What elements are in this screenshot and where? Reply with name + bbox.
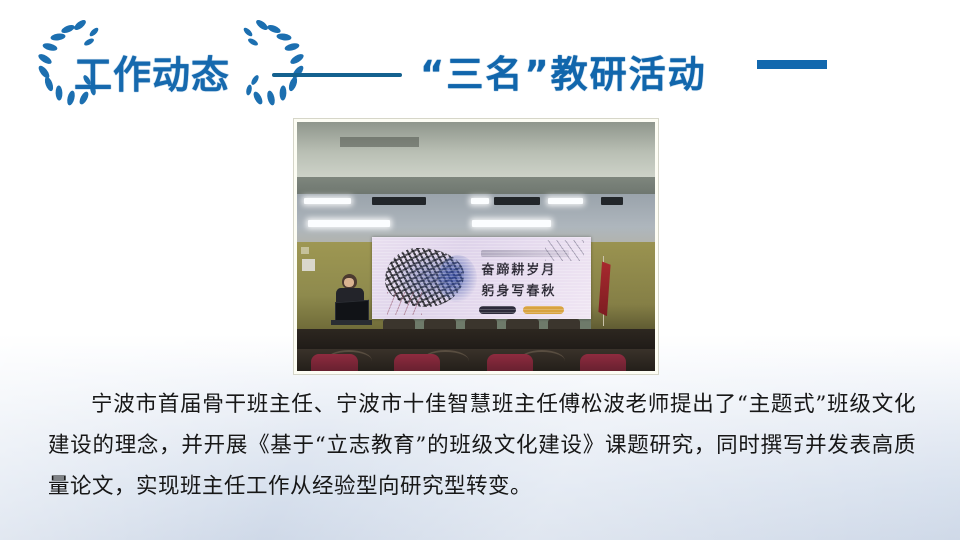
photo-screen-twig-art <box>545 240 584 261</box>
photo-frame: 奋蹄耕岁月 躬身写春秋 <box>294 119 658 374</box>
photo-ceiling-fixture <box>601 197 622 205</box>
photo-screen-subtitle-bar <box>481 250 568 257</box>
photo-wall-sign <box>301 247 309 254</box>
header-rule-left <box>272 73 402 77</box>
photo-wall-panel <box>302 259 315 271</box>
photo-screen-branch-art <box>387 292 422 315</box>
photo-foreground-chair <box>487 354 534 371</box>
section-label: 工作动态 <box>74 44 230 99</box>
photo-screen-headline-1: 奋蹄耕岁月 <box>481 259 556 278</box>
slide-canvas: 工作动态 <box>0 0 960 540</box>
photo-ceiling-light <box>472 220 551 226</box>
photo-ceiling-light <box>471 198 489 204</box>
photo-ceiling-band <box>340 137 419 147</box>
laurel-wreath-right-icon <box>218 18 314 108</box>
photo-ceiling-light <box>304 198 351 204</box>
photo-ceiling-fixture <box>494 197 541 205</box>
lecture-hall-photo: 奋蹄耕岁月 躬身写春秋 <box>297 122 655 371</box>
photo-screen-badge-right <box>523 306 564 313</box>
slide-header: 工作动态 <box>0 0 960 120</box>
photo-screen-badge-left <box>479 306 516 313</box>
photo-foreground-chair <box>394 354 441 371</box>
photo-foreground-chair <box>580 354 627 371</box>
photo-ceiling-light <box>548 198 584 204</box>
photo-ceiling-soffit <box>297 177 655 194</box>
photo-ceiling-fixture <box>372 197 426 205</box>
body-paragraph: 宁波市首届骨干班主任、宁波市十佳智慧班主任傅松波老师提出了“主题式”班级文化建设… <box>48 384 916 507</box>
photo-foreground-chair <box>311 354 358 371</box>
photo-screen-ink-wash <box>438 255 477 303</box>
photo-led-screen: 奋蹄耕岁月 躬身写春秋 <box>372 237 590 319</box>
photo-ceiling <box>297 122 655 177</box>
header-rule-right <box>757 60 827 69</box>
photo-screen-headline-2: 躬身写春秋 <box>481 280 556 299</box>
photo-screen-ink-art <box>385 248 464 307</box>
photo-podium-desk <box>331 320 372 325</box>
photo-ceiling-light <box>308 220 390 226</box>
page-title: “三名”教研活动 <box>420 44 707 98</box>
photo-presenter-face <box>344 278 353 287</box>
photo-right-wall <box>591 242 655 332</box>
